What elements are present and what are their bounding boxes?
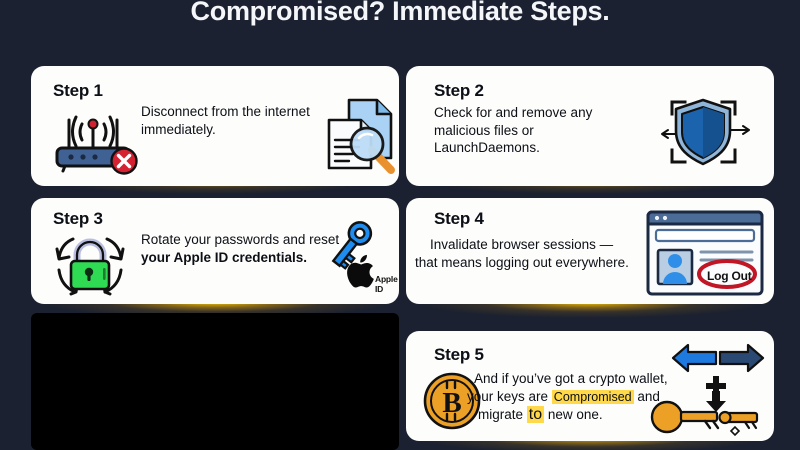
step-4-text-line-2: that means logging out everywhere. xyxy=(415,254,629,272)
apple-id-label: Apple ID xyxy=(375,274,399,294)
card-step-4[interactable]: Step 4 Invalidate browser sessions — tha… xyxy=(406,198,774,304)
step-3-text-line-2-bold: your Apple ID credentials. xyxy=(141,250,307,265)
step-5-line-3-pre: migrate xyxy=(478,407,527,422)
card-step-2[interactable]: Step 2 Check for and remove any maliciou… xyxy=(406,66,774,186)
step-5-line-1: And if you’ve got a crypto wallet, xyxy=(474,370,704,388)
card-step-5[interactable]: Step 5 B And if you’ve got a crypto wall… xyxy=(406,331,774,441)
card-glow-4 xyxy=(415,302,765,318)
card-step-3[interactable]: Step 3 Rotate your passwords and reset xyxy=(31,198,399,304)
card-blank[interactable] xyxy=(31,313,399,450)
page-title: Compromised? Immediate Steps. xyxy=(0,0,800,26)
card-step-1[interactable]: Step 1 xyxy=(31,66,399,186)
step-2-label: Step 2 xyxy=(434,81,484,101)
step-5-highlight-to: to xyxy=(527,406,544,423)
step-5-highlight-compromised: Compromised xyxy=(552,390,634,404)
key-pair-icon xyxy=(647,393,767,439)
step-5-line-3-post: new one. xyxy=(544,407,603,422)
step-1-text: Disconnect from the internet immediately… xyxy=(141,103,341,138)
log-out-label[interactable]: Log Out xyxy=(707,269,752,283)
step-4-text-line-1: Invalidate browser sessions — xyxy=(430,236,613,254)
rotating-lock-icon xyxy=(45,228,137,302)
step-1-label: Step 1 xyxy=(53,81,103,101)
step-4-label: Step 4 xyxy=(434,209,484,229)
step-5-line-2-pre: your keys are xyxy=(467,389,552,404)
browser-window-icon xyxy=(644,206,768,298)
step-5-label: Step 5 xyxy=(434,345,484,365)
shield-scan-icon xyxy=(646,86,761,178)
svg-text:B: B xyxy=(442,387,461,419)
slide-root: Compromised? Immediate Steps. Step 1 xyxy=(0,0,800,450)
step-5-line-1-text: And if you’ve got a crypto wallet, xyxy=(474,371,668,386)
arrow-right-icon xyxy=(717,342,765,374)
step-2-text: Check for and remove any malicious files… xyxy=(434,104,639,157)
apple-logo-icon xyxy=(343,255,377,291)
arrow-left-icon xyxy=(671,342,719,374)
document-search-icon xyxy=(323,92,399,178)
step-3-label: Step 3 xyxy=(53,209,103,229)
error-badge-icon xyxy=(109,146,139,176)
